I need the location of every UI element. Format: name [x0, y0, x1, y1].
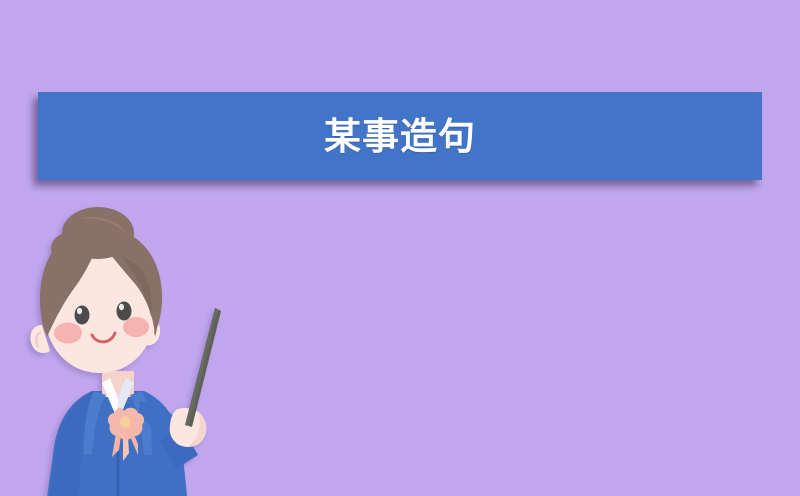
title-banner: 某事造句: [38, 92, 762, 180]
eye-right: [117, 302, 132, 321]
head-group: [30, 207, 162, 373]
cheek-right: [123, 317, 149, 337]
teacher-illustration: [20, 215, 250, 496]
banner-title-text: 某事造句: [324, 118, 476, 155]
badge-center: [120, 417, 131, 428]
eye-right-highlight: [119, 304, 124, 310]
cheek-left: [54, 323, 82, 344]
eye-left-highlight: [77, 308, 82, 314]
page-canvas: 某事造句: [0, 0, 800, 496]
eye-left: [75, 306, 90, 325]
pointer-stick-highlight: [185, 308, 218, 426]
hair-bun-knot: [51, 233, 85, 265]
